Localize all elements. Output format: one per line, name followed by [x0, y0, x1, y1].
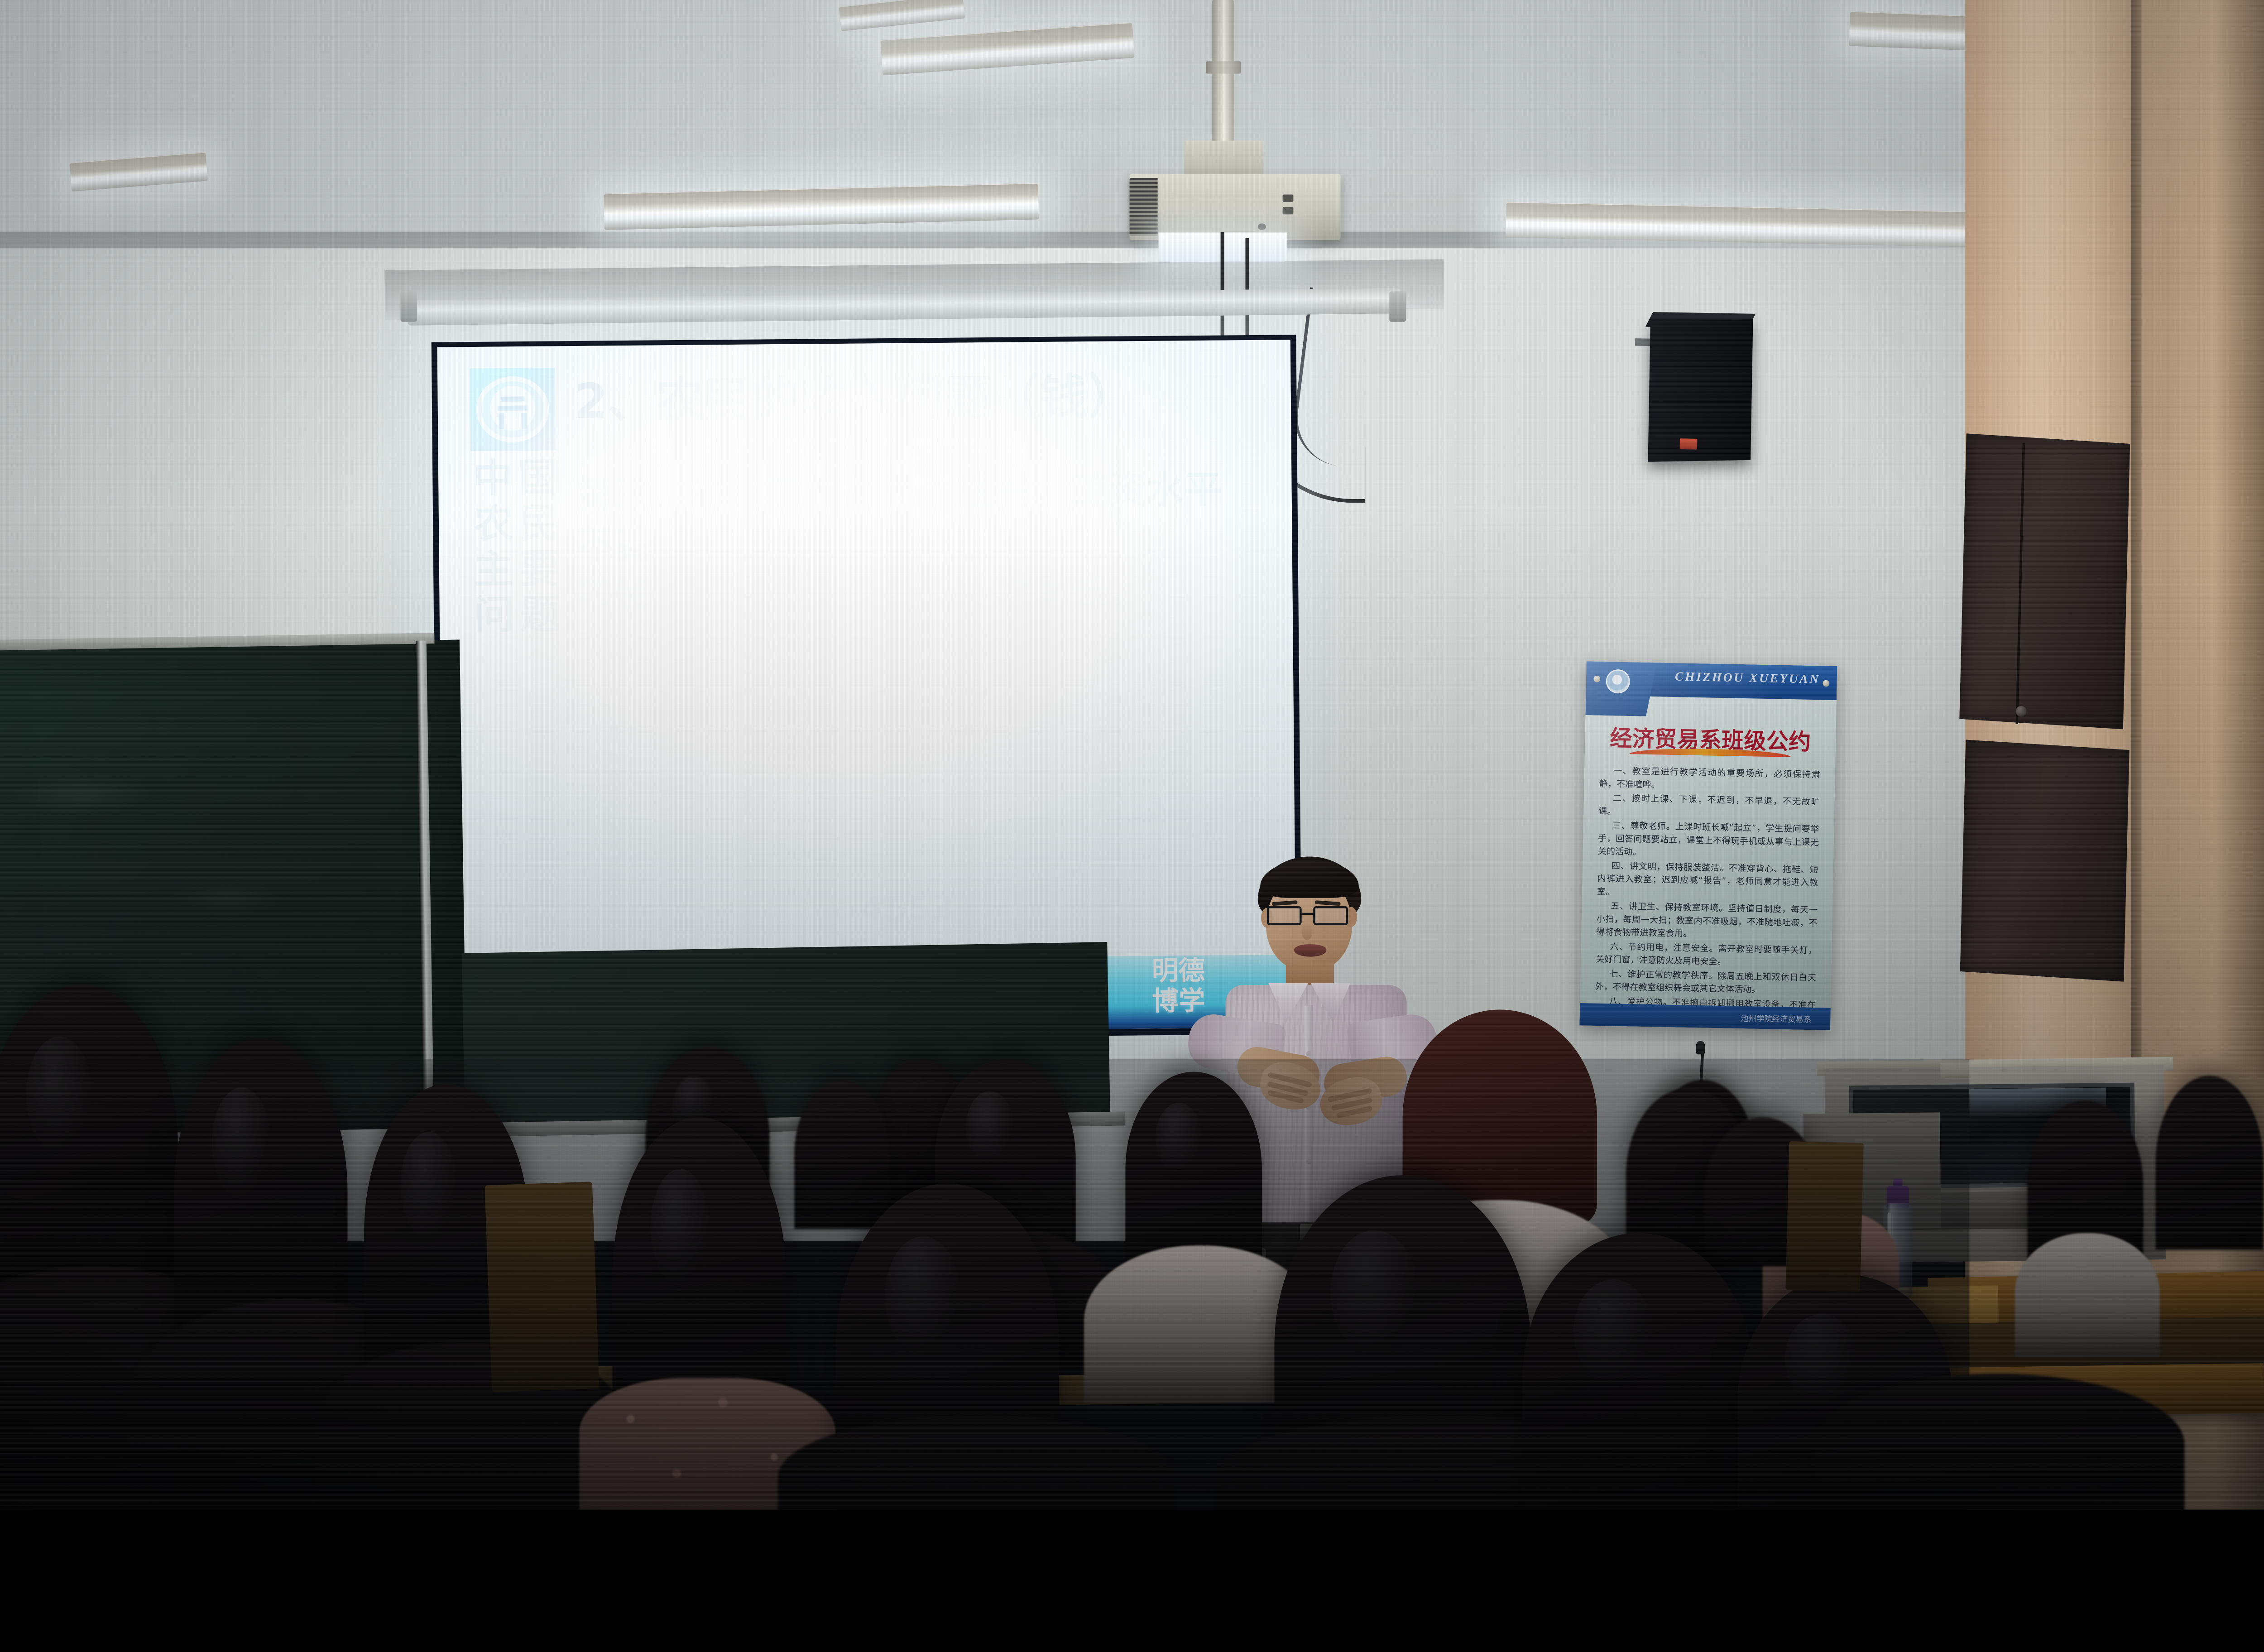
- student-silhouette-foreground: [174, 1038, 348, 1345]
- shirt-button: [1306, 1051, 1312, 1057]
- projector-vent: [1130, 178, 1158, 236]
- class-convention-poster: CHIZHOU XUEYUAN 经济贸易系班级公约 一、教室是进行教学活动的重要…: [1579, 661, 1837, 1030]
- screen-glow-overlay: [437, 340, 1296, 1035]
- crest-gate-glyph: [495, 393, 530, 429]
- lecturer-nose: [1302, 923, 1313, 940]
- sidebar-char: 中: [473, 459, 513, 498]
- sidebar-char: 要: [519, 550, 559, 588]
- projector-port: [1258, 223, 1266, 230]
- ceiling-projector: [1130, 174, 1341, 240]
- poster-rule-item: 四、讲文明，保持服装整洁。不准穿背心、拖鞋、短内裤进入教室；迟到应喊“报告”，老…: [1597, 859, 1819, 903]
- projector-port: [1283, 207, 1294, 214]
- student-silhouette: [794, 1080, 889, 1229]
- poster-rules-list: 一、教室是进行教学活动的重要场所，必须保持肃静，不准喧哗。 二、按时上课、下课，…: [1594, 764, 1820, 1030]
- slide-sidebar-vertical-title: 中 农 主 问 国 民 要 题: [473, 459, 560, 634]
- poster-pinyin-header: CHIZHOU XUEYUAN: [1669, 670, 1827, 687]
- sidebar-char: 题: [520, 595, 560, 634]
- poster-rule-item: 五、讲卫生、保持教室环境。坚持值日制度，每天一小扫，每周一大扫；教室内不准吸烟，…: [1596, 899, 1818, 943]
- eyeglasses-icon: [1264, 906, 1354, 925]
- student-upper-body: [2015, 1233, 2160, 1357]
- poster-rule-item: 六、节约用电，注意安全。离开教室时要随手关灯，关好门窗，注意防火及用电安全。: [1596, 940, 1817, 970]
- student-silhouette-foreground: [1523, 1233, 1755, 1509]
- slide-body-line-faint: 社会保障覆盖率低: [576, 615, 1263, 671]
- slide-sidebar-column: 中 农 主 问: [473, 459, 514, 634]
- poster-footer-text: 池州学院经济贸易系: [1741, 1013, 1812, 1025]
- lecturer-mouth-speaking: [1294, 944, 1326, 956]
- sidebar-char: 国: [518, 459, 558, 497]
- screen-roller-cap: [1389, 291, 1406, 322]
- slide-lower-line: 实际收入有所下降: [577, 766, 1248, 824]
- classroom-scene: 中 农 主 问 国 民 要 题 2、农民的收入问题（钱） 第三、农民工就业稳定性…: [0, 0, 2264, 1509]
- door-knob[interactable]: [2016, 706, 2027, 717]
- projection-screen: 中 农 主 问 国 民 要 题 2、农民的收入问题（钱） 第三、农民工就业稳定性…: [437, 340, 1296, 1035]
- projector-mount-pole: [1212, 0, 1234, 149]
- slide-data-number: 4553: [860, 889, 955, 929]
- sidebar-char: 民: [519, 504, 559, 543]
- eyeglass-lens: [1267, 906, 1302, 925]
- student-shoulders-foreground: [1812, 1374, 2184, 1510]
- eyeglass-bridge: [1302, 913, 1314, 915]
- slide-body-line: 第三、农民工就业稳定性差，工资水平: [575, 464, 1262, 520]
- slide-lower-text: 实际收入有所下降 人均纯收入（元）: [577, 766, 1248, 875]
- sidebar-char: 问: [474, 596, 514, 634]
- projector-pole-joint: [1206, 61, 1241, 73]
- slide-sidebar-column: 国 民 要 题: [518, 459, 560, 634]
- eyeglass-lens: [1313, 906, 1348, 925]
- slide-body-line: 不高: [576, 514, 1263, 571]
- slide-lower-line: 人均纯收入（元）: [578, 818, 1248, 875]
- slide-body: 第三、农民工就业稳定性差，工资水平 不高 农民工劳动强度大、工作时间长， 社会保…: [575, 464, 1264, 671]
- student-silhouette: [2156, 1076, 2264, 1250]
- speaker-brand-badge: [1680, 438, 1698, 449]
- poster-rule-item: 一、教室是进行教学活动的重要场所，必须保持肃静，不准喧哗。: [1599, 764, 1820, 795]
- poster-rule-item: 二、按时上课、下课，不迟到，不早退，不无故旷课。: [1598, 792, 1820, 822]
- slide-title-number: 2、: [574, 373, 656, 430]
- projector-port: [1283, 194, 1294, 202]
- sidebar-char: 主: [474, 550, 513, 589]
- chair-back: [1785, 1141, 1863, 1292]
- lecturer-hair-fringe: [1260, 860, 1358, 898]
- poster-rule-item: 三、尊敬老师。上课时班长喊“起立”，学生提问要举手，回答问题要站立，课堂上不得玩…: [1597, 819, 1819, 862]
- chair-back: [484, 1181, 599, 1392]
- wall-door-lower-panel[interactable]: [1960, 740, 2130, 981]
- wall-door-upper-panel[interactable]: [1959, 433, 2130, 729]
- university-crest-icon: [470, 368, 556, 451]
- presentation-slide: 中 农 主 问 国 民 要 题 2、农民的收入问题（钱） 第三、农民工就业稳定性…: [437, 340, 1296, 1035]
- screen-roller-cap: [401, 291, 417, 322]
- slide-body-line-faint: 农民工劳动强度大、工作时间长，: [576, 565, 1263, 621]
- student-silhouette: [1125, 1072, 1262, 1266]
- poster-rule-item: 七、维护正常的教学秩序。除周五晚上和双休日白天外，不得在教室组织舞会或其它文体活…: [1595, 967, 1817, 998]
- slide-title: 2、农民的收入问题（钱）: [574, 371, 1136, 427]
- wall-speaker: [1648, 319, 1753, 462]
- slide-title-text: 农民的收入问题（钱）: [655, 369, 1136, 429]
- sidebar-char: 农: [473, 504, 513, 543]
